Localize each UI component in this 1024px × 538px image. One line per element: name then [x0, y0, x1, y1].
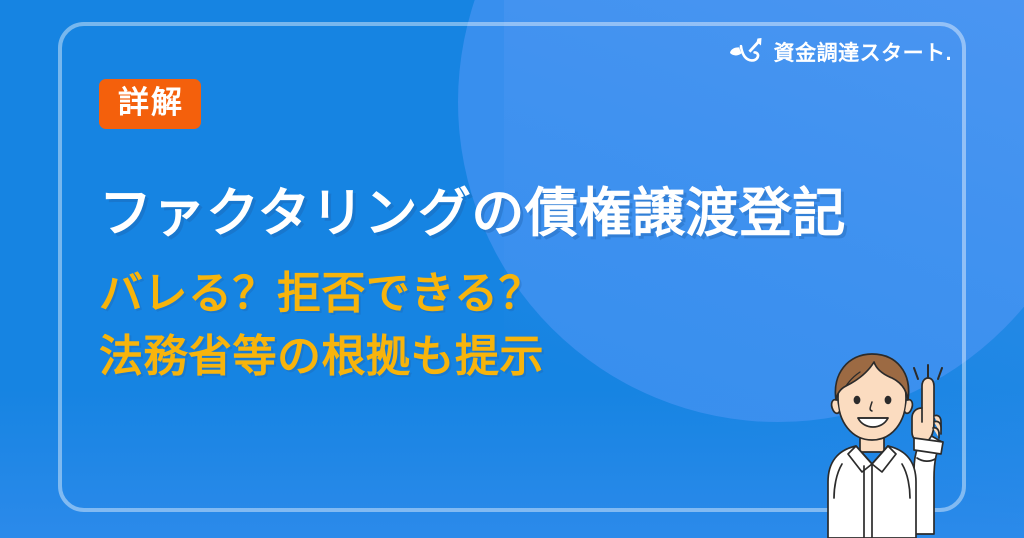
- brand-logo-text: 資金調達スタート.: [774, 43, 952, 64]
- face: [832, 354, 913, 440]
- brand-logo[interactable]: 資金調達スタート.: [727, 32, 952, 74]
- sprout-arrow-icon: [727, 34, 767, 72]
- emphasis-lines: [914, 365, 942, 379]
- subline-1: バレる？拒否できる？: [99, 263, 929, 325]
- pointing-hand: [912, 378, 941, 442]
- category-badge: 詳解: [99, 79, 201, 129]
- headline-title: ファクタリングの債権譲渡登記: [99, 186, 929, 242]
- banner-root: 資金調達スタート. 詳解 ファクタリングの債権譲渡登記 バレる？拒否できる？ 法…: [0, 0, 1024, 538]
- illustration-man-pointing-up: [802, 338, 1002, 538]
